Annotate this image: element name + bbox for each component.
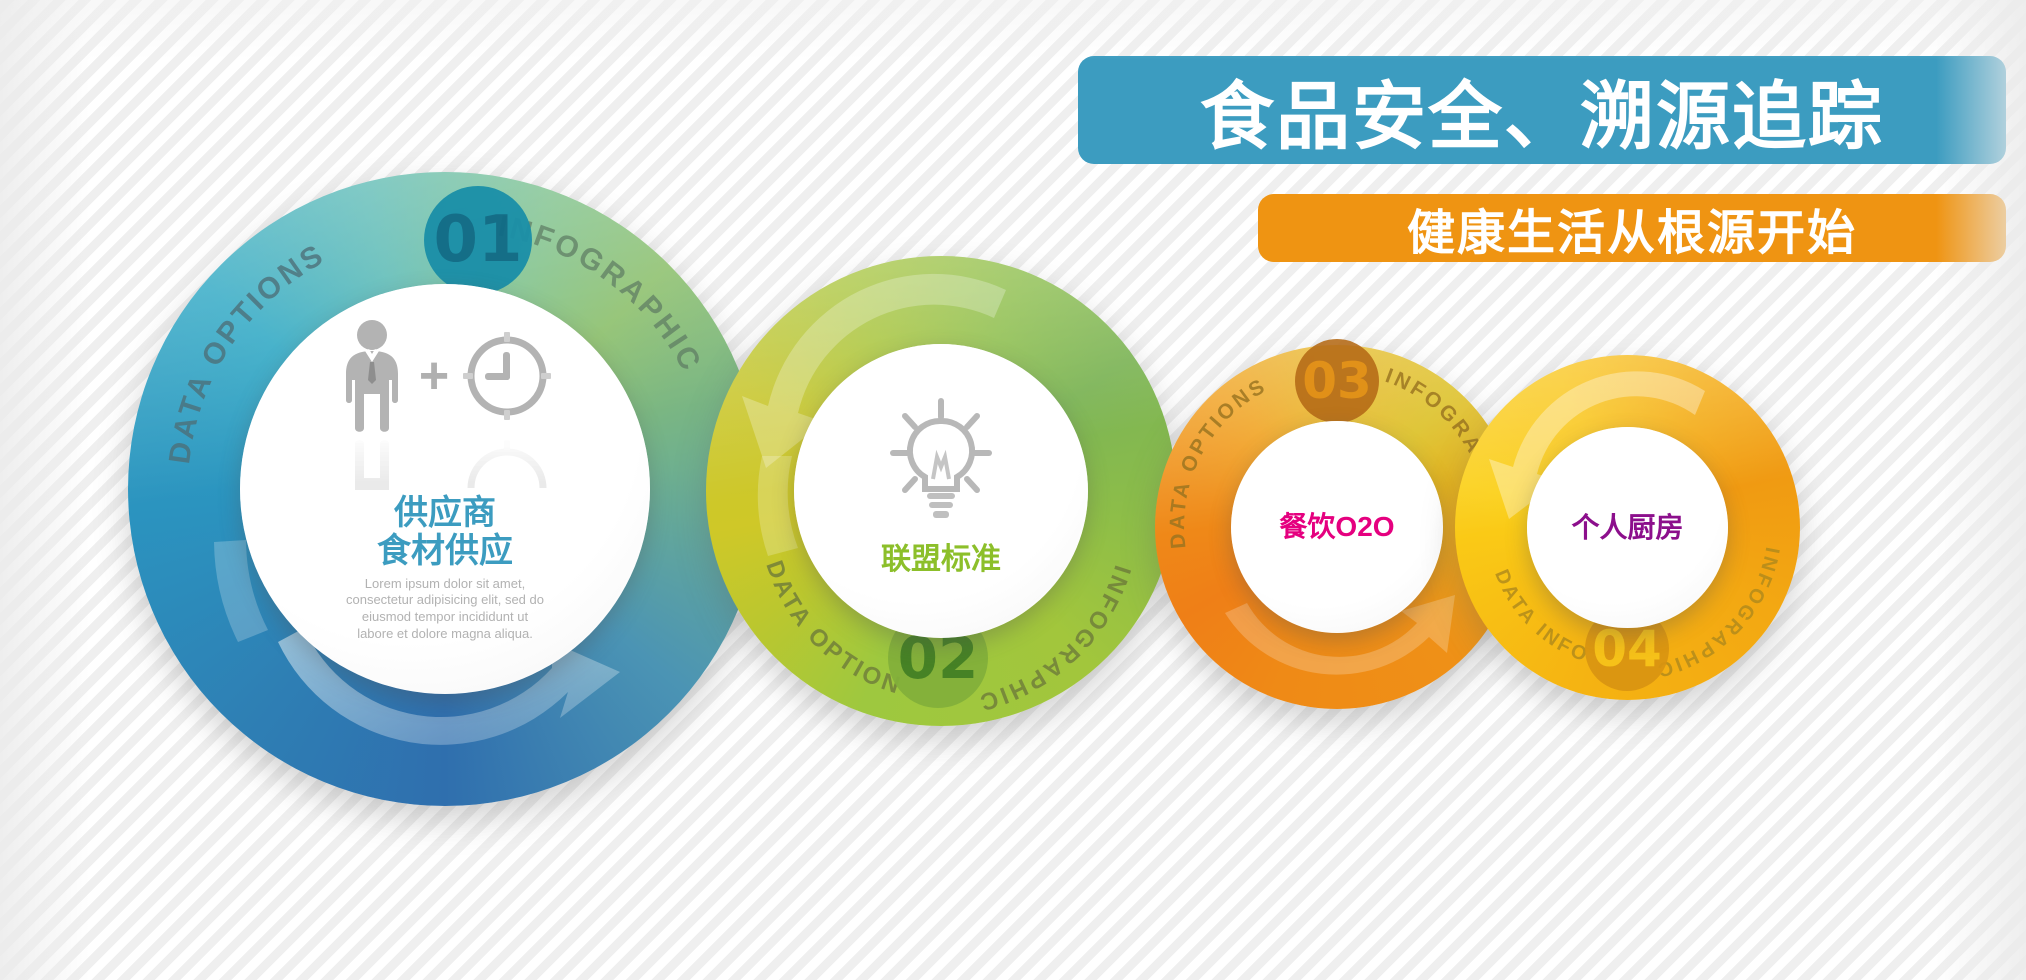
step-1-icon-row: +	[335, 318, 555, 434]
step-1-icon-reflection: +	[335, 430, 555, 490]
sub-title-text: 健康生活从根源开始	[1407, 193, 1857, 263]
step-3-hub: 餐饮O2O	[1231, 421, 1443, 633]
step-1-hub: + +	[240, 284, 650, 694]
step-3-number-badge: 03	[1295, 339, 1379, 423]
infographic-canvas: DATA OPTIONS INFOGRAPHIC 01 +	[0, 0, 2026, 980]
step-1-number: 01	[433, 203, 522, 277]
lightbulb-icon	[881, 391, 1001, 523]
step-circle-4[interactable]: DATA INFO INFOGRAPHIC 04 个人厨房	[1455, 355, 1800, 700]
step-1-body-text: Lorem ipsum dolor sit amet, consectetur …	[345, 576, 545, 643]
sub-title-banner: 健康生活从根源开始	[1258, 194, 2006, 262]
clock-icon	[459, 328, 555, 424]
main-title-text: 食品安全、溯源追踪	[1200, 57, 1884, 164]
step-1-title-line2: 食材供应	[377, 532, 513, 570]
step-1-title-line1: 供应商	[377, 494, 513, 532]
step-1-title: 供应商 食材供应	[377, 494, 513, 570]
step-3-title: 餐饮O2O	[1279, 511, 1394, 542]
main-title-banner: 食品安全、溯源追踪	[1078, 56, 2006, 164]
step-2-title: 联盟标准	[881, 543, 1001, 577]
step-4-hub: 个人厨房	[1527, 427, 1728, 628]
step-2-hub: 联盟标准	[794, 344, 1088, 638]
plus-icon: +	[419, 350, 449, 402]
step-4-title: 个人厨房	[1571, 512, 1683, 543]
step-3-number: 03	[1302, 352, 1372, 410]
businessman-icon	[335, 318, 409, 434]
step-circle-1[interactable]: DATA OPTIONS INFOGRAPHIC 01 +	[128, 172, 762, 806]
step-circle-2[interactable]: DATA OPTIONS INFOGRAPHIC 02	[706, 256, 1176, 726]
step-4-number: 04	[1592, 620, 1662, 678]
step-1-number-badge: 01	[424, 186, 532, 294]
